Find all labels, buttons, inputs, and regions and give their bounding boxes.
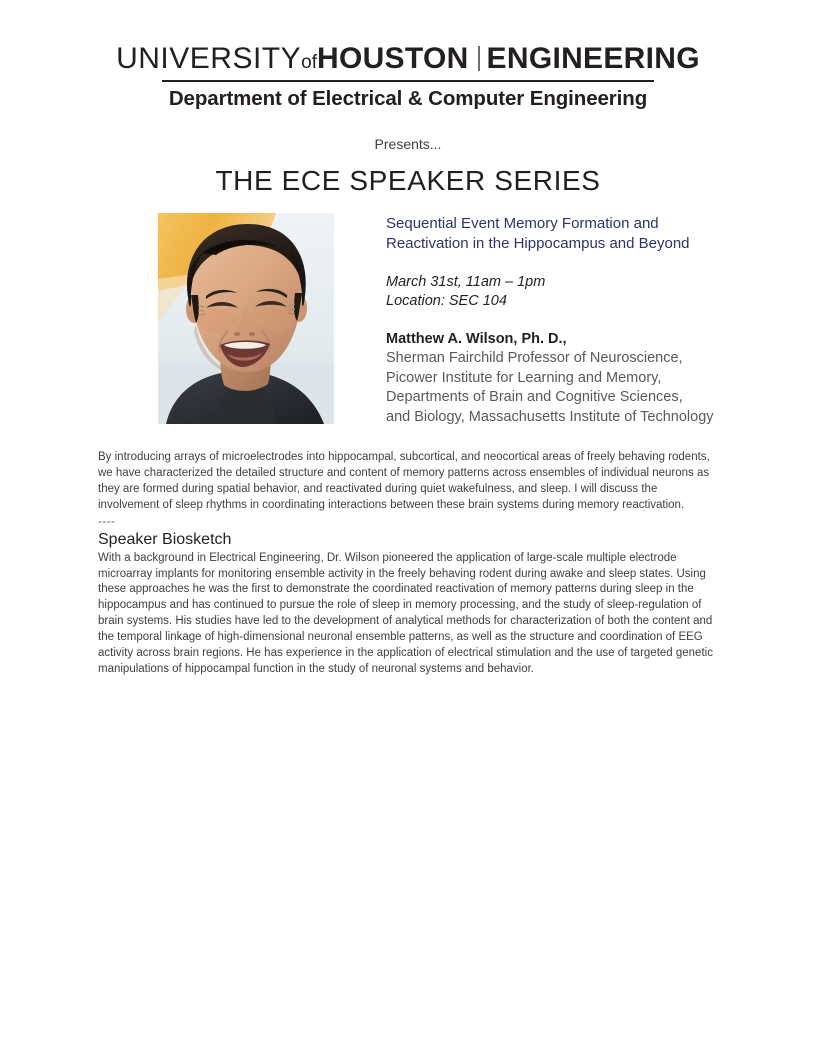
logo-houston-text: HOUSTON	[317, 42, 469, 75]
presents-label: Presents...	[0, 136, 816, 152]
talk-schedule: March 31st, 11am – 1pm Location: SEC 104	[386, 273, 742, 311]
biosketch-heading: Speaker Biosketch	[98, 530, 718, 550]
talk-info-column: Sequential Event Memory Formation and Re…	[386, 214, 742, 427]
speaker-affiliation-line: Departments of Brain and Cognitive Scien…	[386, 388, 742, 408]
speaker-info: Matthew A. Wilson, Ph. D., Sherman Fairc…	[386, 330, 742, 427]
body-content: By introducing arrays of microelectrodes…	[98, 450, 718, 678]
speaker-name: Matthew A. Wilson, Ph. D.,	[386, 330, 742, 349]
abstract-paragraph: By introducing arrays of microelectrodes…	[98, 450, 718, 514]
biosketch-paragraph: With a background in Electrical Engineer…	[98, 551, 718, 678]
logo-of-text: of	[301, 52, 317, 73]
department-name: Department of Electrical & Computer Engi…	[116, 89, 700, 110]
flyer-page: UNIVERSITYofHOUSTONENGINEERING Departmen…	[0, 0, 816, 1056]
uh-engineering-logo: UNIVERSITYofHOUSTONENGINEERING Departmen…	[116, 44, 700, 110]
logo-engineering-text: ENGINEERING	[487, 42, 700, 75]
dash-separator: ----	[98, 515, 718, 529]
speaker-affiliation-line: Picower Institute for Learning and Memor…	[386, 369, 742, 389]
talk-title-line-1: Sequential Event Memory Formation and	[386, 214, 742, 234]
uh-engineering-header: UNIVERSITYofHOUSTONENGINEERING Departmen…	[0, 44, 816, 110]
speaker-photo	[158, 213, 334, 424]
talk-title: Sequential Event Memory Formation and Re…	[386, 214, 742, 253]
speaker-affiliation-line: Sherman Fairchild Professor of Neuroscie…	[386, 349, 742, 369]
speaker-series-title: THE ECE SPEAKER SERIES	[0, 165, 816, 197]
talk-datetime: March 31st, 11am – 1pm	[386, 273, 742, 292]
speaker-affiliation-line: and Biology, Massachusetts Institute of …	[386, 408, 742, 428]
talk-title-line-2: Reactivation in the Hippocampus and Beyo…	[386, 234, 742, 254]
logo-horizontal-rule	[162, 80, 654, 82]
speaker-affiliation: Sherman Fairchild Professor of Neuroscie…	[386, 349, 742, 427]
logo-university-text: UNIVERSITY	[116, 42, 301, 75]
logo-divider-bar	[478, 46, 480, 71]
talk-location: Location: SEC 104	[386, 292, 742, 311]
speaker-portrait-illustration	[158, 213, 334, 424]
